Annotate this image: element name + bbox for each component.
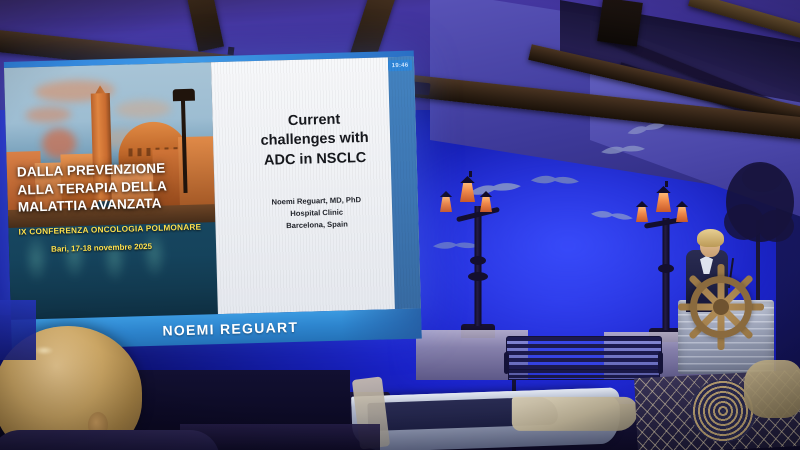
presentation-title-slide: Current challenges with ADC in NSCLC Noe…	[211, 57, 421, 315]
burlap-sack	[744, 360, 800, 418]
lantern-icon	[480, 196, 492, 212]
lantern-cap	[634, 201, 650, 207]
wheel-hub	[713, 299, 729, 315]
projected-slide: DALLA PREVENZIONE ALLA TERAPIA DELLA MAL…	[4, 57, 421, 320]
banner-speaker-name: NOEMI REGUART	[134, 319, 298, 340]
slide-title-line3: ADC in NSCLC	[261, 148, 369, 170]
poster-conference-name: IX CONFERENZA ONCOLOGIA POLMONARE	[18, 222, 207, 236]
time-badge: 19:46	[388, 60, 412, 72]
lamppost-ornament	[470, 256, 486, 265]
ships-wheel-icon	[690, 276, 752, 338]
bench-backrest	[506, 336, 662, 370]
speaker-hair	[697, 229, 724, 247]
lantern-finial	[665, 181, 668, 187]
lantern-cap	[438, 191, 454, 197]
bench-armrest	[504, 352, 509, 374]
lantern-icon	[676, 206, 688, 222]
poster-location-date: Bari, 17-18 novembre 2025	[19, 240, 208, 254]
audience-member-shoulder	[0, 430, 220, 450]
slide-city: Barcelona, Spain	[272, 219, 362, 234]
lantern-icon	[656, 192, 671, 212]
ceiling-fixture	[228, 47, 235, 56]
poster-title: DALLA PREVENZIONE ALLA TERAPIA DELLA MAL…	[17, 158, 207, 216]
conference-room-photo: DALLA PREVENZIONE ALLA TERAPIA DELLA MAL…	[0, 0, 800, 450]
conference-poster-artwork: DALLA PREVENZIONE ALLA TERAPIA DELLA MAL…	[4, 62, 218, 320]
projection-screen: DALLA PREVENZIONE ALLA TERAPIA DELLA MAL…	[4, 57, 421, 338]
lamppost-pole	[475, 206, 482, 326]
boat-prop	[351, 387, 621, 450]
head-highlight	[34, 346, 54, 355]
lantern-icon	[460, 182, 475, 202]
slide-title: Current challenges with ADC in NSCLC	[260, 110, 370, 171]
lantern-cap	[654, 186, 673, 193]
lantern-cap	[478, 191, 494, 197]
lamppost-ornament	[468, 272, 488, 281]
wooden-beam-post	[597, 0, 643, 47]
lamppost-ornament	[658, 264, 674, 273]
seagull-icon	[530, 170, 581, 189]
decorative-lamppost	[430, 168, 526, 338]
lantern-finial	[469, 171, 472, 177]
lantern-cap	[458, 176, 477, 183]
slide-title-line2: challenges with	[260, 129, 368, 151]
lantern-icon	[636, 206, 648, 222]
lamppost-pole	[663, 218, 670, 330]
lantern-icon	[440, 196, 452, 212]
slide-author-block: Noemi Reguart, MD, PhD Hospital Clinic B…	[271, 194, 361, 233]
lantern-cap	[674, 201, 690, 207]
seagull-icon	[600, 141, 647, 158]
wooden-beam-vertical	[182, 0, 224, 52]
bench-armrest	[658, 352, 663, 374]
draped-cloth	[512, 397, 638, 431]
left-foreground-panel	[0, 300, 36, 360]
banner-gradient-overlay	[341, 308, 422, 340]
poster-text-block: DALLA PREVENZIONE ALLA TERAPIA DELLA MAL…	[4, 62, 218, 320]
